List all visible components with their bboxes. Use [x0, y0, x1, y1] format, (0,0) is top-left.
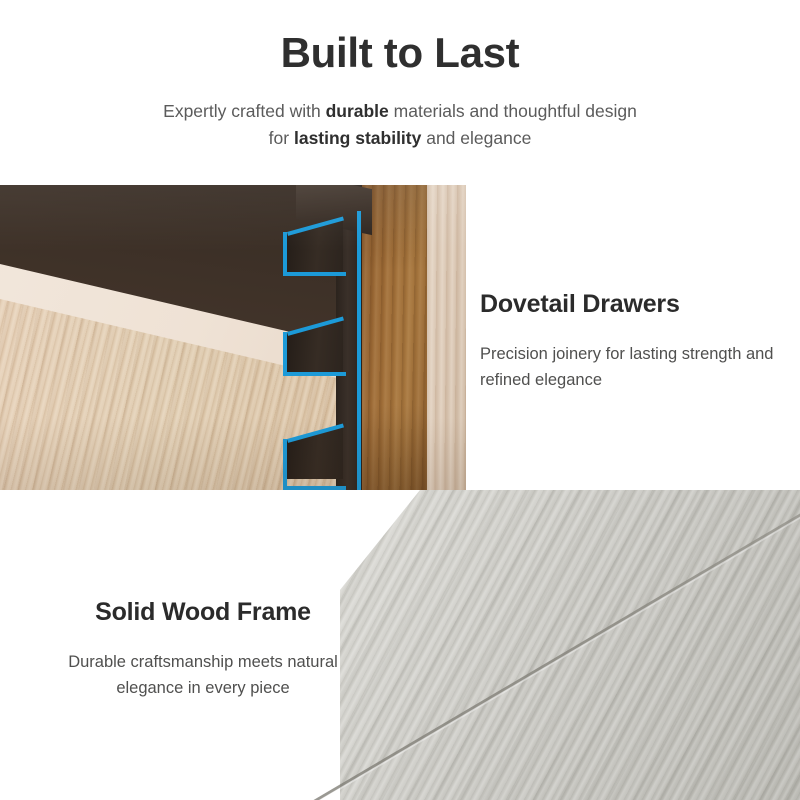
dovetail-highlight-stroke [283, 332, 287, 376]
dovetail-highlight-stroke [287, 272, 346, 276]
dovetail-highlight-stroke [357, 211, 361, 490]
feature-block-dovetail-drawers: Dovetail Drawers Precision joinery for l… [480, 288, 785, 393]
dovetail-highlight-stroke [287, 372, 346, 376]
subtitle-line-2: for lasting stability and elegance [269, 128, 532, 148]
page-title: Built to Last [0, 27, 800, 79]
feature-block-solid-wood-frame: Solid Wood Frame Durable craftsmanship m… [63, 596, 343, 701]
infographic-canvas: Built to Last Expertly crafted with dura… [0, 0, 800, 800]
subtitle-emphasis-durable: durable [326, 101, 389, 121]
header-section: Built to Last Expertly crafted with dura… [0, 0, 800, 185]
outer-veneer-strip [427, 185, 466, 490]
page-subtitle: Expertly crafted with durable materials … [50, 98, 750, 152]
dovetail-highlight-stroke [283, 439, 287, 490]
subtitle-emphasis-stability: lasting stability [294, 128, 421, 148]
dovetail-highlight-stroke [283, 232, 287, 276]
feature-description-dovetail-drawers: Precision joinery for lasting strength a… [480, 341, 785, 393]
feature-title-solid-wood-frame: Solid Wood Frame [63, 596, 343, 628]
dovetail-drawer-photo [0, 185, 466, 490]
subtitle-line-1: Expertly crafted with durable materials … [163, 101, 637, 121]
feature-description-solid-wood-frame: Durable craftsmanship meets natural eleg… [63, 649, 343, 701]
feature-title-dovetail-drawers: Dovetail Drawers [480, 288, 785, 320]
